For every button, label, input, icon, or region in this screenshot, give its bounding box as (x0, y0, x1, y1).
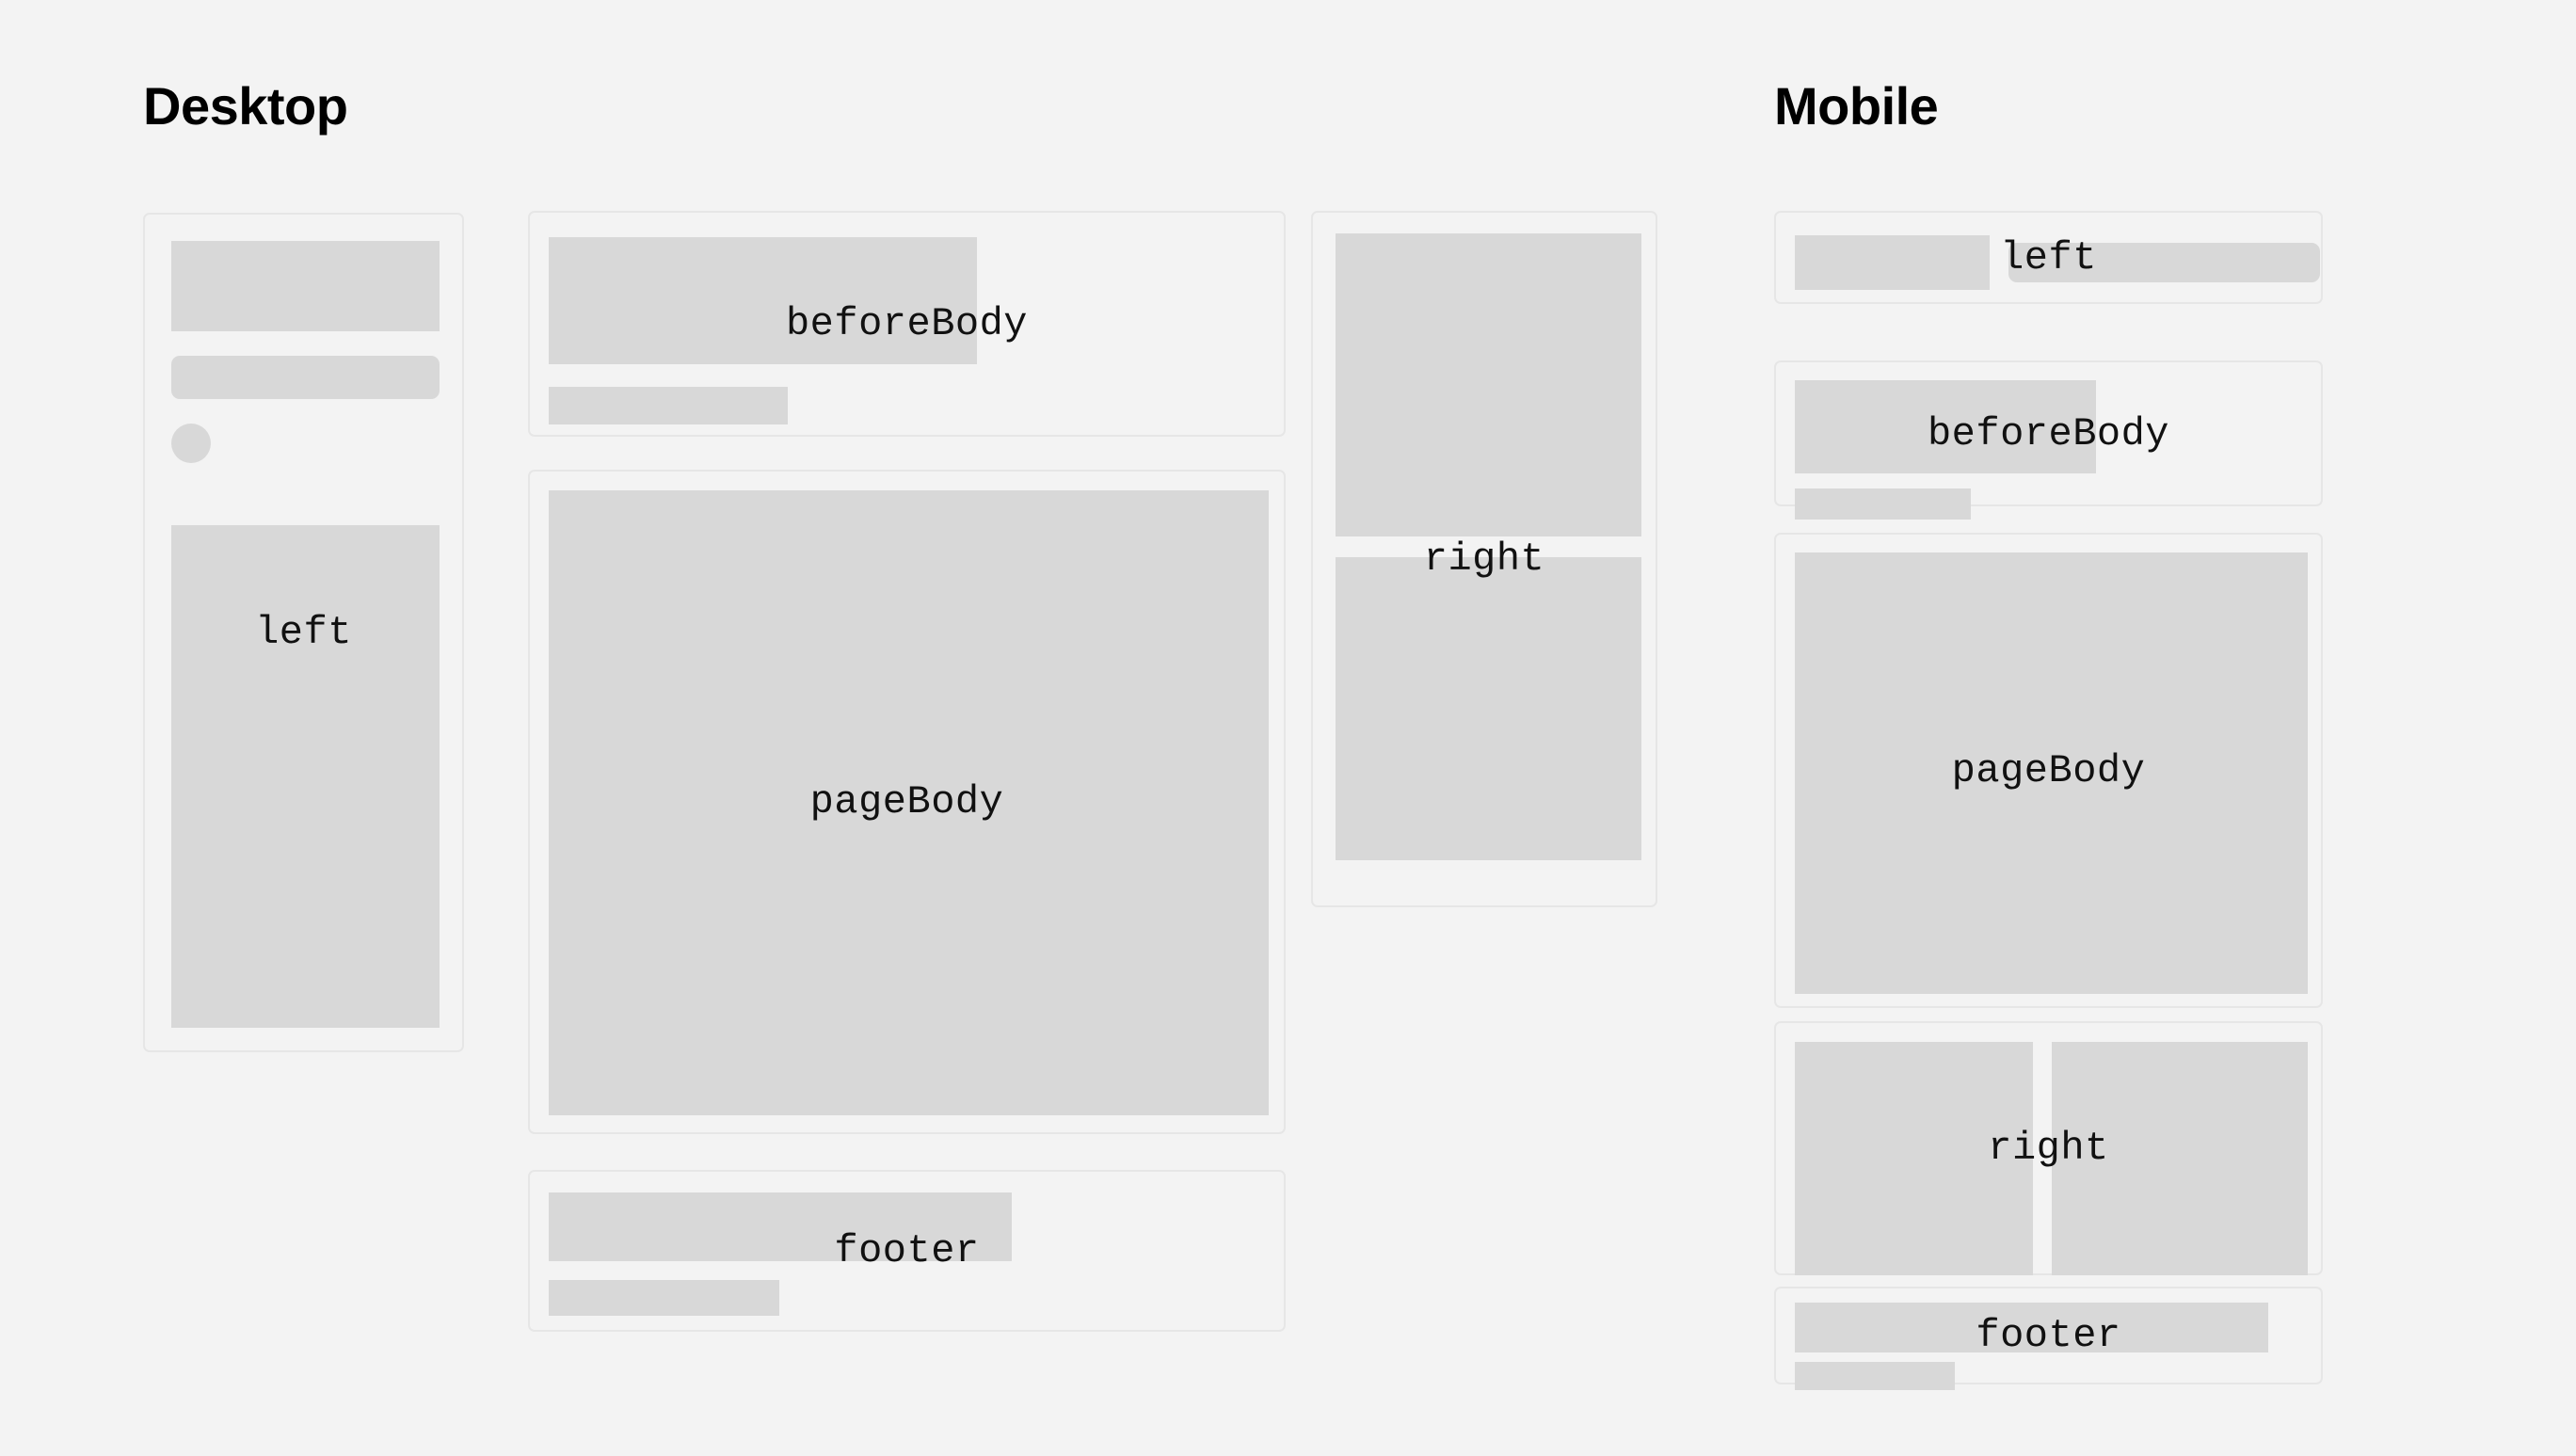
desktop-slot-footer[interactable]: footer (528, 1170, 1286, 1332)
mobile-slot-pagebody[interactable]: pageBody (1774, 533, 2323, 1008)
skeleton-block (549, 490, 1269, 1115)
skeleton-block (1795, 552, 2308, 994)
skeleton-block (1336, 557, 1641, 860)
skeleton-block (1795, 235, 1990, 290)
skeleton-bar (171, 356, 440, 399)
mobile-slot-beforebody[interactable]: beforeBody (1774, 360, 2323, 506)
desktop-slot-left[interactable]: left (143, 213, 464, 1052)
skeleton-block (171, 241, 440, 331)
skeleton-block (1795, 380, 2096, 473)
skeleton-block (2052, 1042, 2308, 1275)
skeleton-block (549, 1192, 1012, 1261)
skeleton-block (1336, 233, 1641, 536)
desktop-slot-beforebody[interactable]: beforeBody (528, 211, 1286, 437)
mobile-slot-footer[interactable]: footer (1774, 1287, 2323, 1384)
skeleton-bar (2008, 243, 2320, 282)
mobile-slot-left[interactable]: left (1774, 211, 2323, 304)
mobile-slot-right[interactable]: right (1774, 1021, 2323, 1275)
skeleton-block (1795, 1042, 2033, 1275)
mobile-section-title: Mobile (1774, 80, 1938, 133)
skeleton-block (1795, 1303, 2268, 1352)
desktop-section-title: Desktop (143, 80, 347, 133)
skeleton-block (549, 237, 977, 364)
skeleton-block (171, 525, 440, 1028)
wireframe-canvas: Desktop left beforeBody pageBody footer … (0, 0, 2576, 1456)
avatar-circle-icon (2276, 247, 2301, 272)
skeleton-bar (1795, 488, 1971, 520)
desktop-slot-right[interactable]: right (1311, 211, 1657, 907)
desktop-slot-pagebody[interactable]: pageBody (528, 470, 1286, 1134)
skeleton-bar (1795, 1362, 1955, 1390)
skeleton-bar (549, 387, 788, 424)
avatar-circle-icon (171, 424, 211, 463)
skeleton-bar (549, 1280, 779, 1316)
